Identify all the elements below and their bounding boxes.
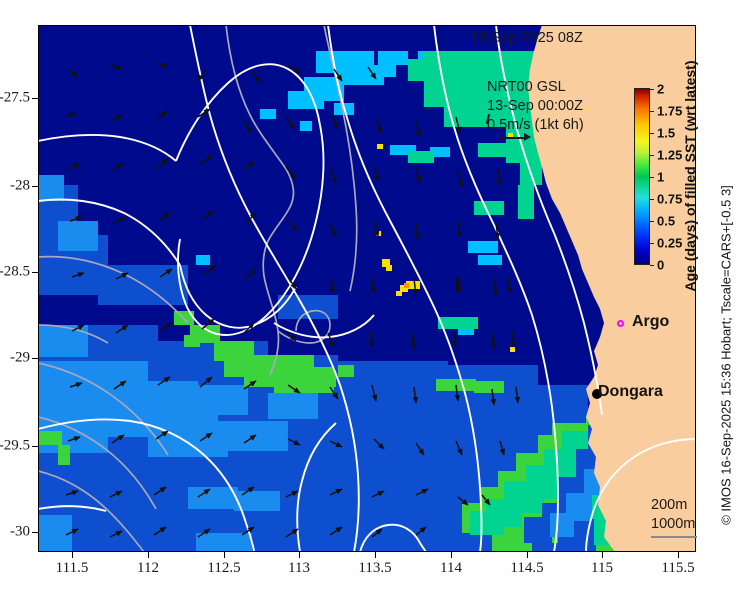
y-tick-label: -28 — [10, 178, 30, 195]
colorbar-tick-label: 2 — [657, 82, 664, 97]
scalebar-upper-label: 200m — [651, 497, 687, 513]
x-tick-label: 112 — [137, 560, 159, 577]
colorbar-tick-label: 0.5 — [657, 214, 675, 229]
x-tick-label: 114.5 — [510, 560, 543, 577]
colorbar-gradient — [634, 88, 650, 265]
dongara-label: Dongara — [598, 383, 663, 401]
y-tick-label: -28.5 — [0, 264, 30, 281]
scalebar-lower-label: 1000m — [651, 516, 695, 532]
colorbar[interactable] — [634, 88, 650, 265]
y-tick-label: -29.5 — [0, 438, 30, 455]
x-tick-label: 111.5 — [56, 560, 89, 577]
velocity-vectors — [38, 25, 696, 552]
y-tick-label: -27.5 — [0, 90, 30, 107]
colorbar-tick-label: 1.25 — [657, 148, 682, 163]
x-tick-label: 114 — [440, 560, 462, 577]
y-tick-label: -29 — [10, 350, 30, 367]
x-tick-label: 113.5 — [358, 560, 391, 577]
colorbar-tick-label: 1 — [657, 170, 664, 185]
x-tick-label: 115 — [591, 560, 613, 577]
colorbar-title: Age (days) of filled SST (wrt latest) — [682, 60, 698, 291]
annotation-line2: 13-Sep 00:00Z — [487, 98, 583, 114]
map-title-timestamp: 13-Sep-2025 08Z — [470, 30, 583, 46]
y-tick-label: -30 — [10, 524, 30, 541]
x-tick-label: 113 — [288, 560, 310, 577]
map-plot-area[interactable] — [38, 25, 696, 552]
credit-text: © IMOS 16-Sep-2025 15:36 Hobart; Tscale=… — [719, 185, 734, 525]
reference-velocity-arrow — [499, 137, 526, 139]
argo-marker-icon[interactable] — [617, 320, 624, 327]
colorbar-tick-label: 1.75 — [657, 104, 682, 119]
annotation-line1: NRT00 GSL — [487, 79, 566, 95]
colorbar-tick-label: 0.75 — [657, 192, 682, 207]
figure-root: 111.5 112 112.5 113 113.5 114 114.5 115 … — [0, 0, 740, 592]
colorbar-tick-label: 0.25 — [657, 236, 682, 251]
colorbar-tick-label: 1.5 — [657, 126, 675, 141]
annotation-line3: 0.5m/s (1kt 6h) — [487, 117, 584, 133]
reference-velocity-arrowhead — [524, 133, 531, 141]
colorbar-tick-label: 0 — [657, 258, 664, 273]
x-tick-label: 112.5 — [207, 560, 240, 577]
scalebar-line — [651, 536, 697, 538]
argo-label: Argo — [632, 313, 669, 331]
x-tick-label: 115.5 — [661, 560, 694, 577]
